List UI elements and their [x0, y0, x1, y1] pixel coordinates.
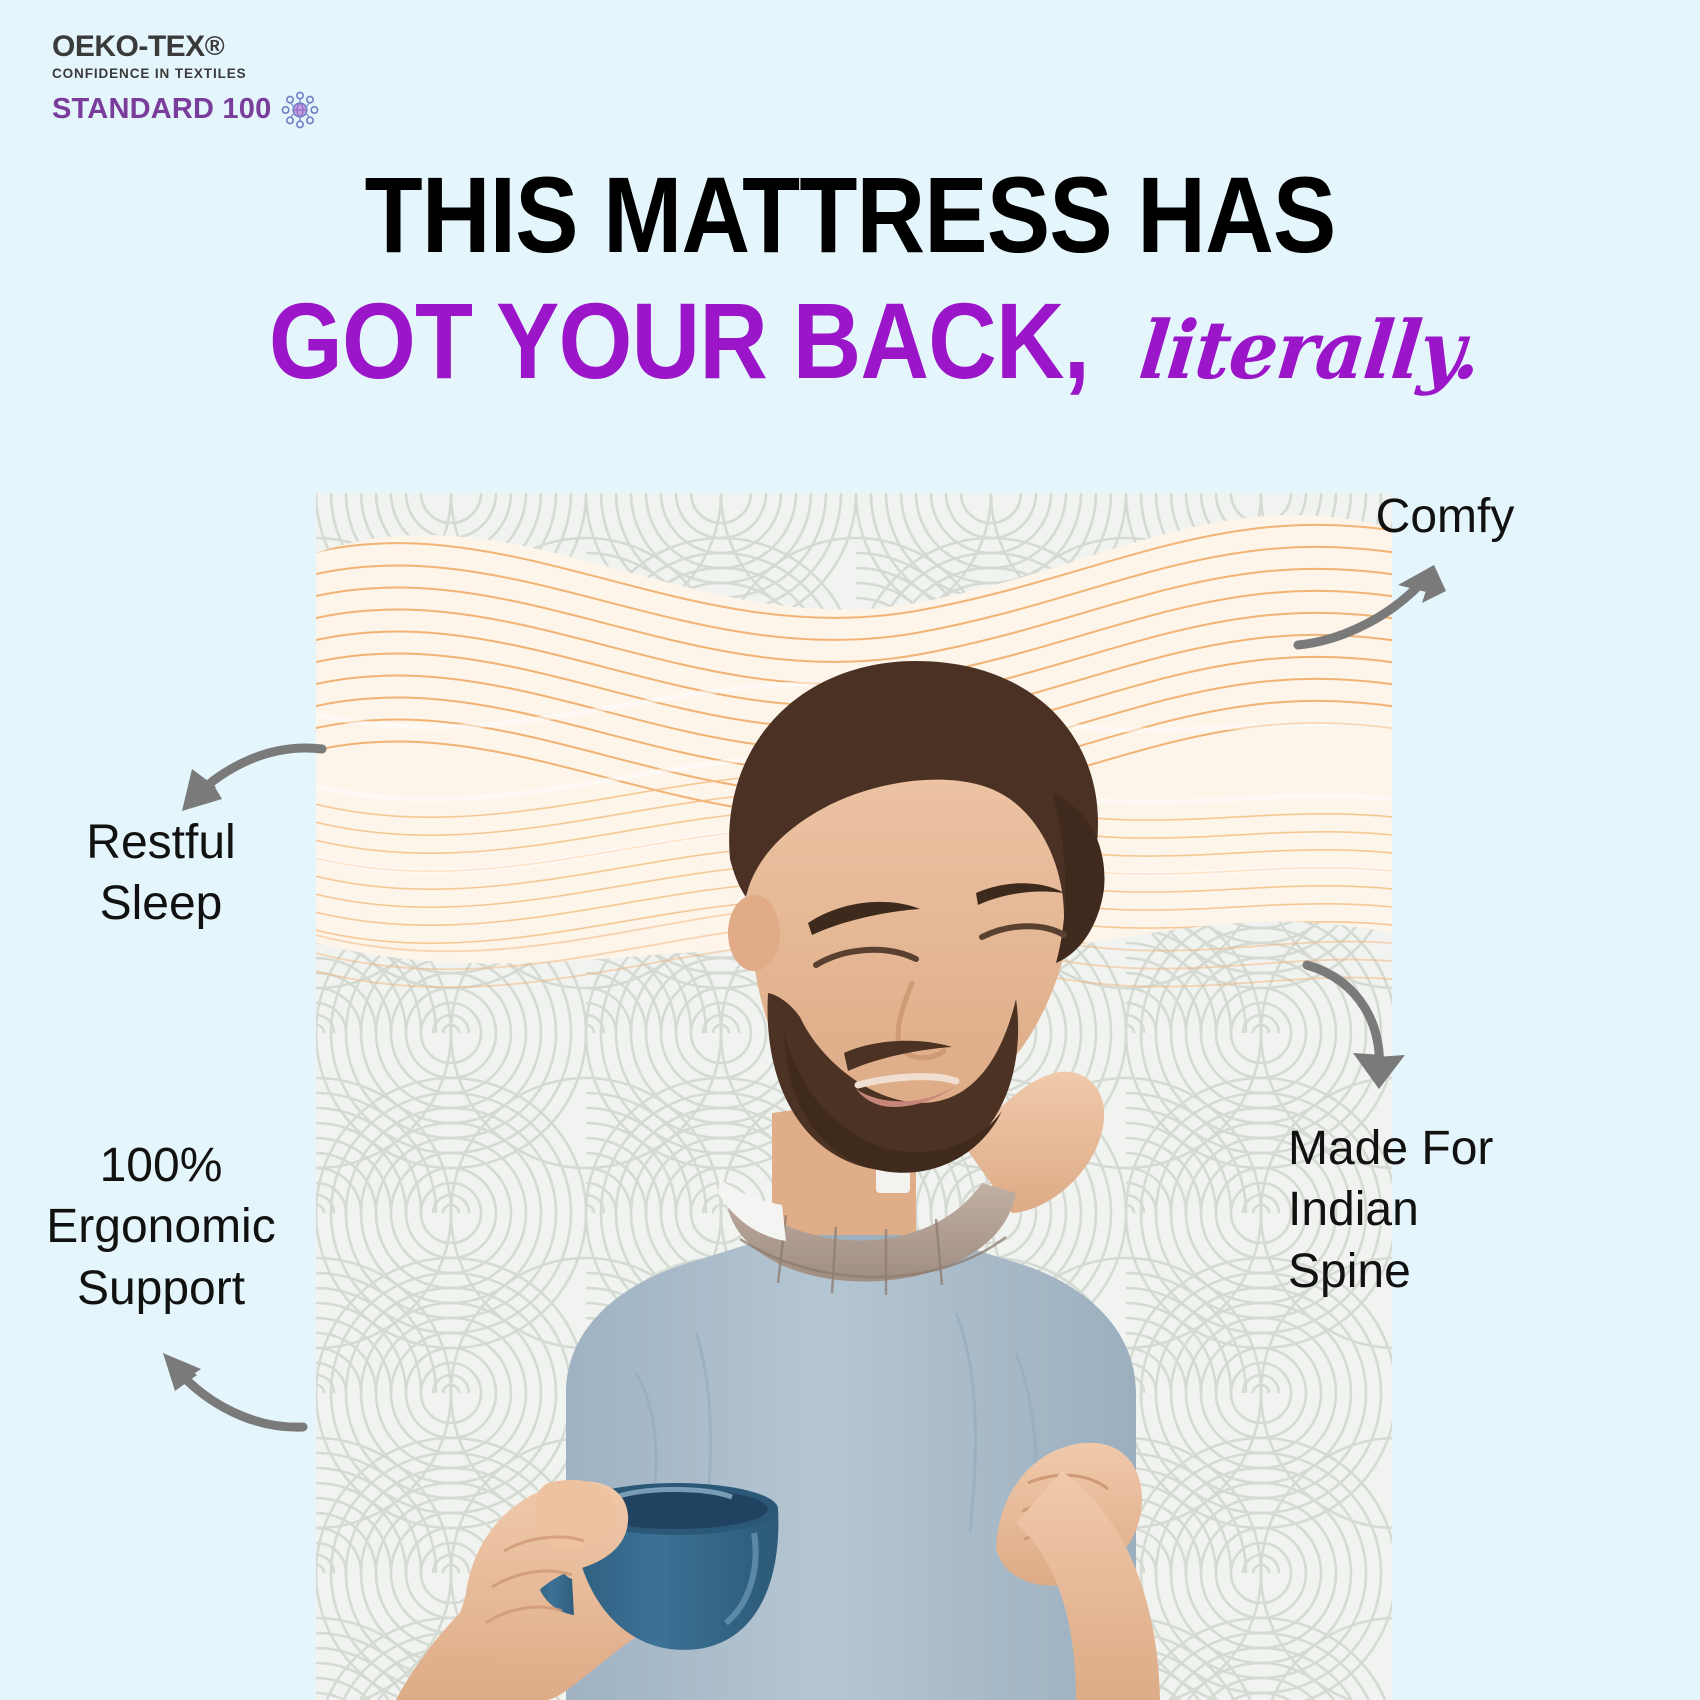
callout-comfy-label: Comfy	[1330, 486, 1560, 547]
logo-brand-line: OEKO-TEX®	[52, 32, 317, 62]
logo-standard-text: STANDARD 100	[52, 95, 271, 124]
callout-ergonomic-support-label: 100% Ergonomic Support	[16, 1135, 306, 1319]
mattress-with-man-photo	[316, 493, 1392, 1700]
flower-globe-icon	[280, 90, 320, 130]
headline-bold-part: GOT YOUR BACK,	[269, 286, 1089, 396]
oeko-tex-logo: OEKO-TEX® CONFIDENCE IN TEXTILES STANDAR…	[52, 32, 317, 127]
headline-line-2: GOT YOUR BACK, literally.	[0, 286, 1700, 396]
registered-trademark-icon: ®	[205, 31, 224, 61]
arrow-ergonomic-support-icon	[145, 1325, 315, 1435]
callout-indian-spine-label: Made For Indian Spine	[1288, 1118, 1548, 1302]
headline-block: THIS MATTRESS HAS GOT YOUR BACK, literal…	[0, 160, 1700, 396]
photo-artwork	[316, 493, 1392, 1700]
headline-line-1: THIS MATTRESS HAS	[102, 160, 1598, 270]
logo-brand-text: OEKO-TEX	[52, 30, 205, 63]
headline-script-part: literally.	[1136, 310, 1484, 392]
callout-restful-sleep-label: Restful Sleep	[36, 812, 286, 935]
logo-standard-line: STANDARD 100	[52, 90, 317, 130]
logo-tagline: CONFIDENCE IN TEXTILES	[52, 67, 317, 81]
